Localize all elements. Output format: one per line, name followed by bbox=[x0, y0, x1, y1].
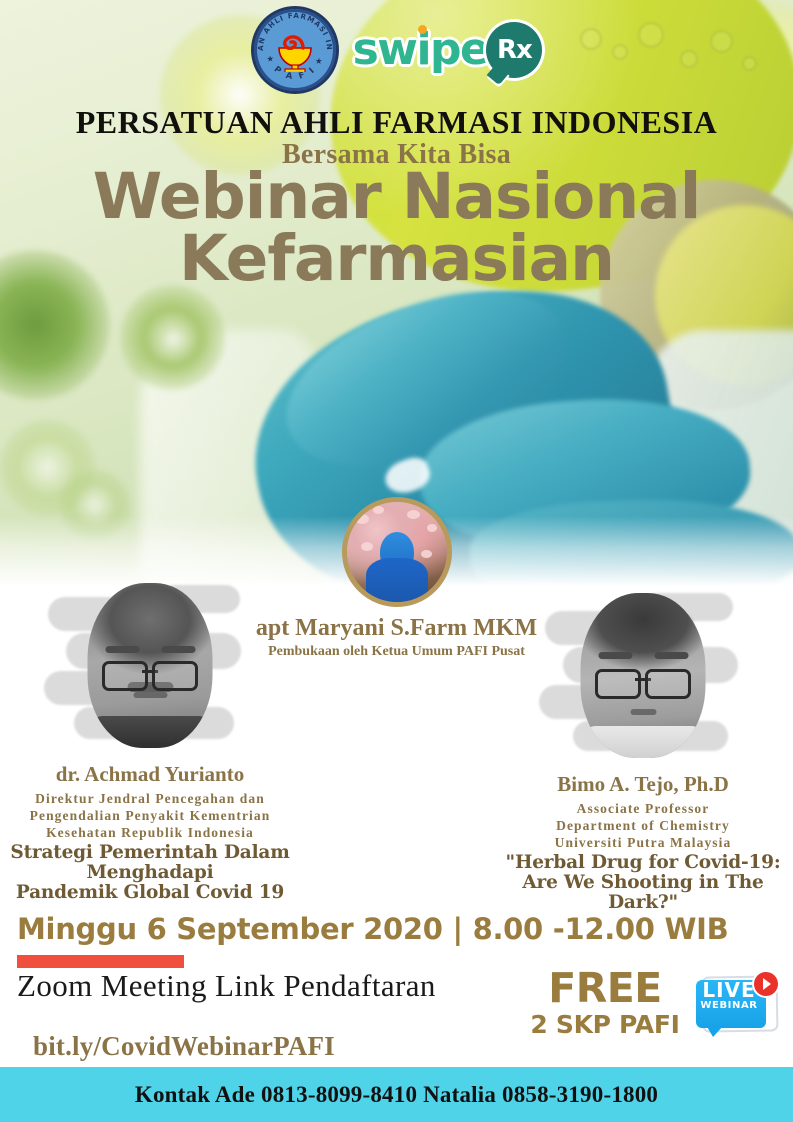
speaker-left-photo bbox=[40, 575, 260, 760]
pafi-logo-icon: PERSATUAN AHLI FARMASI INDONESIA ★ P A F… bbox=[251, 6, 339, 94]
glasses-icon bbox=[102, 661, 198, 685]
glasses-icon bbox=[595, 669, 691, 693]
speaker-right-photo bbox=[533, 585, 753, 770]
speaker-left-topic-line2: Pandemik Global Covid 19 bbox=[0, 883, 300, 903]
speaker-right-topic-line2: Are We Shooting in The Dark?" bbox=[493, 873, 793, 914]
rx-label: Rx bbox=[497, 37, 532, 63]
speaker-left-affiliation-line3: Kesehatan Republik Indonesia bbox=[0, 825, 300, 842]
speaker-left-affiliation-line2: Pengendalian Penyakit Kementrian bbox=[0, 808, 300, 825]
skp-credits-label: 2 SKP PAFI bbox=[525, 1009, 685, 1040]
swiperx-logo: swipe Rx bbox=[353, 22, 543, 78]
virus-blob-icon bbox=[120, 285, 225, 390]
speaker-right-affiliation-line3: Universiti Putra Malaysia bbox=[493, 835, 793, 852]
speaker-right-topic: "Herbal Drug for Covid-19: Are We Shooti… bbox=[493, 853, 793, 914]
webinar-poster: PERSATUAN AHLI FARMASI INDONESIA ★ P A F… bbox=[0, 0, 793, 1122]
speaker-right-affiliation-line2: Department of Chemistry bbox=[493, 818, 793, 835]
play-icon bbox=[754, 972, 778, 996]
contact-bar: Kontak Ade 0813-8099-8410 Natalia 0858-3… bbox=[0, 1067, 793, 1122]
organization-title: PERSATUAN AHLI FARMASI INDONESIA bbox=[0, 104, 793, 141]
price-block: FREE 2 SKP PAFI bbox=[525, 968, 685, 1040]
free-label: FREE bbox=[525, 968, 685, 1009]
rx-bubble-icon: Rx bbox=[486, 22, 542, 78]
speaker-right-affiliation-line1: Associate Professor bbox=[493, 801, 793, 818]
logo-row: PERSATUAN AHLI FARMASI INDONESIA ★ P A F… bbox=[0, 6, 793, 94]
webinar-label: WEBINAR bbox=[694, 1001, 764, 1011]
schedule-date-time: Minggu 6 September 2020 | 8.00 -12.00 WI… bbox=[17, 912, 728, 946]
red-underline-bar bbox=[17, 955, 184, 968]
bowl-of-hygieia-icon bbox=[273, 32, 317, 72]
registration-label: Zoom Meeting Link Pendaftaran bbox=[17, 968, 436, 1004]
speaker-right-affiliation: Associate Professor Department of Chemis… bbox=[493, 801, 793, 852]
swipe-wordmark: swipe bbox=[353, 28, 489, 72]
live-webinar-badge: LIVE WEBINAR bbox=[694, 972, 780, 1044]
speaker-left-topic: Strategi Pemerintah Dalam Menghadapi Pan… bbox=[0, 843, 300, 904]
speaker-left-affiliation-line1: Direktur Jendral Pencegahan dan bbox=[0, 791, 300, 808]
registration-link[interactable]: bit.ly/CovidWebinarPAFI bbox=[33, 1031, 335, 1062]
speaker-right-topic-line1: "Herbal Drug for Covid-19: bbox=[493, 853, 793, 873]
speaker-left: dr. Achmad Yurianto Direktur Jendral Pen… bbox=[0, 575, 300, 904]
speaker-left-topic-line1: Strategi Pemerintah Dalam Menghadapi bbox=[0, 843, 300, 884]
speaker-right: Bimo A. Tejo, Ph.D Associate Professor D… bbox=[493, 585, 793, 914]
contact-text: Kontak Ade 0813-8099-8410 Natalia 0858-3… bbox=[135, 1082, 658, 1108]
avatar bbox=[342, 497, 452, 607]
speaker-left-affiliation: Direktur Jendral Pencegahan dan Pengenda… bbox=[0, 791, 300, 842]
speaker-left-name: dr. Achmad Yurianto bbox=[0, 762, 300, 787]
swipe-dot-icon bbox=[418, 25, 427, 34]
speaker-right-name: Bimo A. Tejo, Ph.D bbox=[493, 772, 793, 797]
main-title-line2: Kefarmasian bbox=[0, 228, 793, 290]
page-title: Webinar Nasional Kefarmasian bbox=[0, 166, 793, 289]
